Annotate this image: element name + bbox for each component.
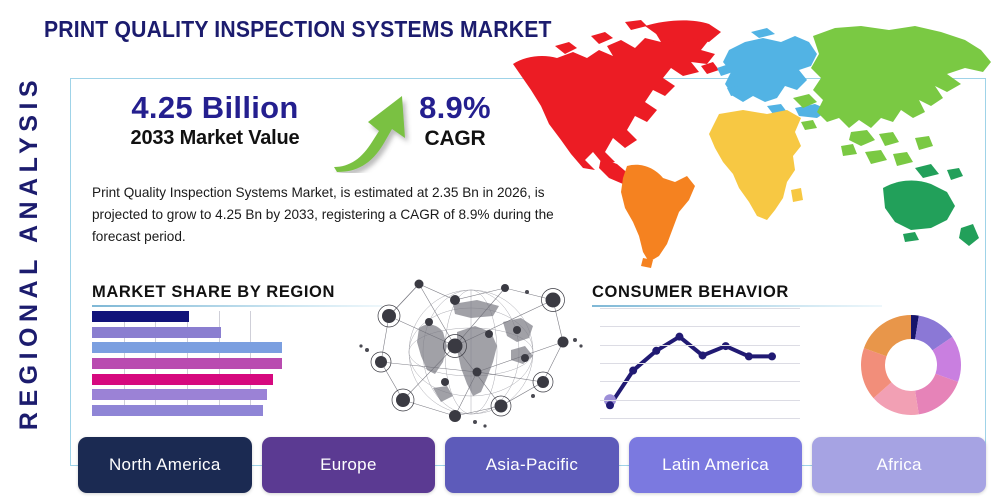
side-label-regional-analysis: REGIONAL ANALYSIS [8, 62, 52, 442]
donut-chart-plot [858, 312, 964, 418]
line-chart-gridlines [600, 308, 800, 418]
gridline [600, 363, 800, 364]
cagr-label: CAGR [400, 127, 510, 151]
region-pill-bar: North AmericaEuropeAsia-PacificLatin Ame… [78, 437, 986, 493]
bar-chart-bar [92, 311, 189, 322]
map-region-africa [709, 110, 803, 220]
key-stats: 4.25 Billion 2033 Market Value 8.9% CAGR [100, 92, 500, 167]
market-share-bar-chart [92, 311, 282, 416]
bar-chart-bars [92, 311, 282, 416]
section-title-consumer-behavior: CONSUMER BEHAVIOR [592, 283, 882, 307]
bar-chart-bar [92, 342, 282, 353]
region-pill-label: Africa [877, 455, 922, 475]
bar-chart-bar [92, 327, 221, 338]
map-region-europe [717, 28, 829, 118]
gridline [600, 345, 800, 346]
region-pill-europe[interactable]: Europe [262, 437, 436, 493]
region-pill-latin-america[interactable]: Latin America [629, 437, 803, 493]
map-region-south-america [621, 165, 695, 268]
map-region-north-america [513, 20, 721, 190]
gridline [600, 418, 800, 419]
bar-chart-bar [92, 374, 273, 385]
region-pill-label: Europe [320, 455, 377, 475]
gridline [600, 326, 800, 327]
consumer-behavior-line-chart [600, 308, 800, 418]
side-label-text: REGIONAL ANALYSIS [16, 74, 45, 429]
global-network-icon [357, 276, 585, 428]
gridline [600, 381, 800, 382]
bar-chart-bar [92, 389, 267, 400]
cagr-stat: 8.9% CAGR [400, 92, 510, 151]
market-value-number: 4.25 Billion [100, 92, 330, 125]
page-title: PRINT QUALITY INSPECTION SYSTEMS MARKET [44, 16, 552, 43]
market-value-stat: 4.25 Billion 2033 Market Value [100, 92, 330, 150]
region-pill-label: North America [109, 455, 221, 475]
consumer-donut-chart [858, 312, 964, 418]
map-region-asia [793, 26, 991, 166]
region-pill-north-america[interactable]: North America [78, 437, 252, 493]
donut-segment [864, 315, 911, 356]
bar-chart-bar [92, 358, 282, 369]
market-value-label: 2033 Market Value [100, 127, 330, 150]
bar-chart-bar [92, 405, 263, 416]
region-pill-africa[interactable]: Africa [812, 437, 986, 493]
region-pill-label: Latin America [662, 455, 769, 475]
world-map-icon [495, 6, 995, 268]
gridline [600, 400, 800, 401]
section-title-market-share: MARKET SHARE BY REGION [92, 283, 382, 307]
cagr-number: 8.9% [400, 92, 510, 125]
map-region-oceania [883, 164, 979, 246]
region-pill-label: Asia-Pacific [486, 455, 578, 475]
summary-paragraph: Print Quality Inspection Systems Market,… [92, 182, 562, 248]
infographic-root: PRINT QUALITY INSPECTION SYSTEMS MARKET … [0, 0, 1000, 500]
gridline [600, 308, 800, 309]
donut-segment [915, 374, 958, 415]
region-pill-asia-pacific[interactable]: Asia-Pacific [445, 437, 619, 493]
